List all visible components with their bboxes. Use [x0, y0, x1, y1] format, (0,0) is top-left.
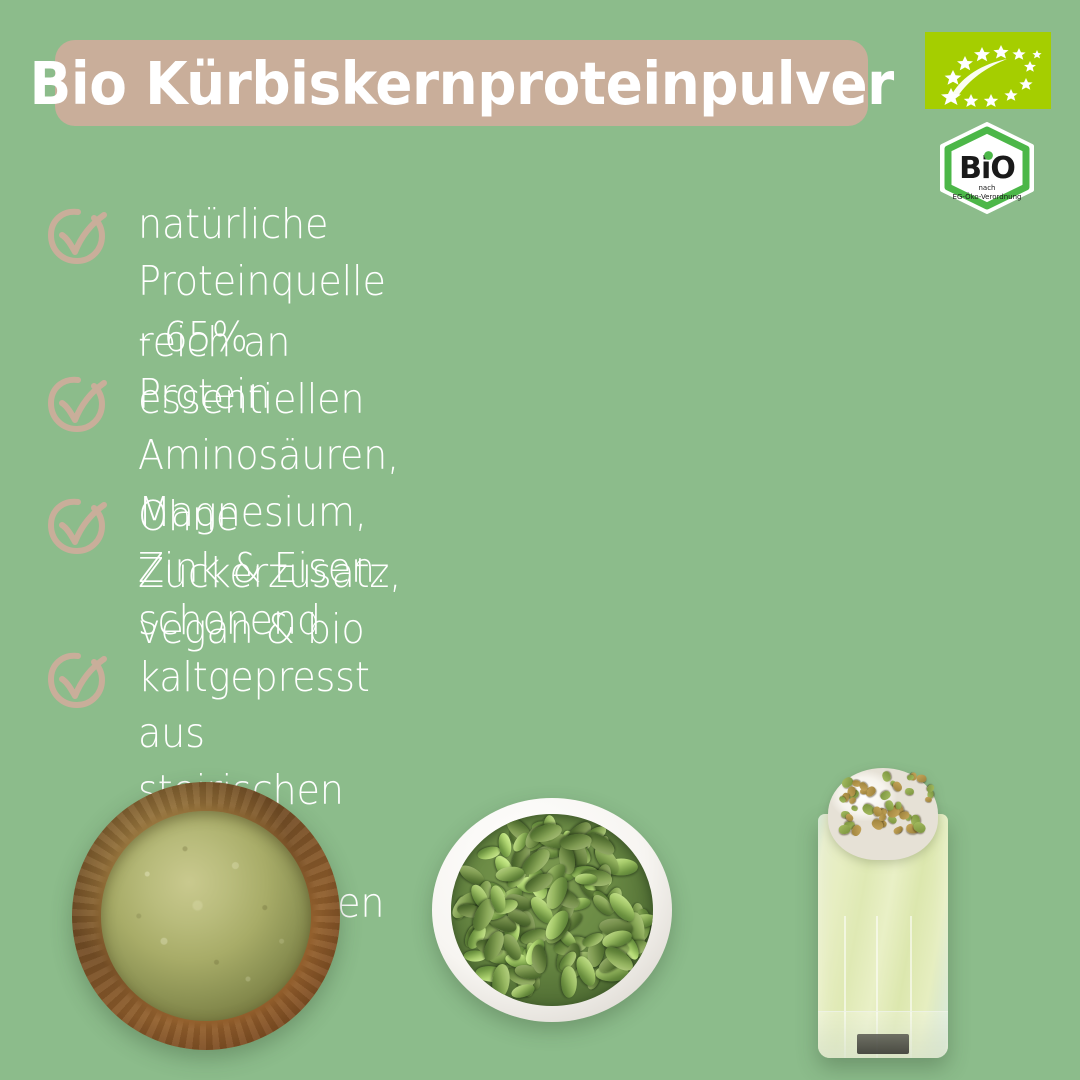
whipped-cream-topping [828, 768, 938, 860]
pistachio-piece [839, 824, 851, 834]
white-bowl-pumpkin-seeds [432, 798, 672, 1022]
protein-powder-surface [101, 811, 310, 1020]
product-image-row [0, 0, 1080, 1080]
wooden-bowl-protein-powder [72, 782, 340, 1050]
pumpkin-seeds-pile [451, 814, 653, 1007]
pistachio-piece [851, 805, 859, 812]
pumpkin-seed [561, 966, 577, 998]
pumpkin-seed [510, 982, 536, 1000]
infographic-canvas: Bio Kürbiskernproteinpulver [0, 0, 1080, 1080]
pistachio-piece [916, 775, 926, 783]
powder-texture [101, 811, 310, 1020]
pistachio-piece [905, 788, 915, 796]
pistachio-piece [925, 797, 932, 803]
glass-base [818, 1011, 948, 1058]
protein-smoothie-glass [818, 768, 948, 1058]
pistachio-piece [881, 770, 892, 782]
pumpkin-seed [574, 873, 596, 885]
